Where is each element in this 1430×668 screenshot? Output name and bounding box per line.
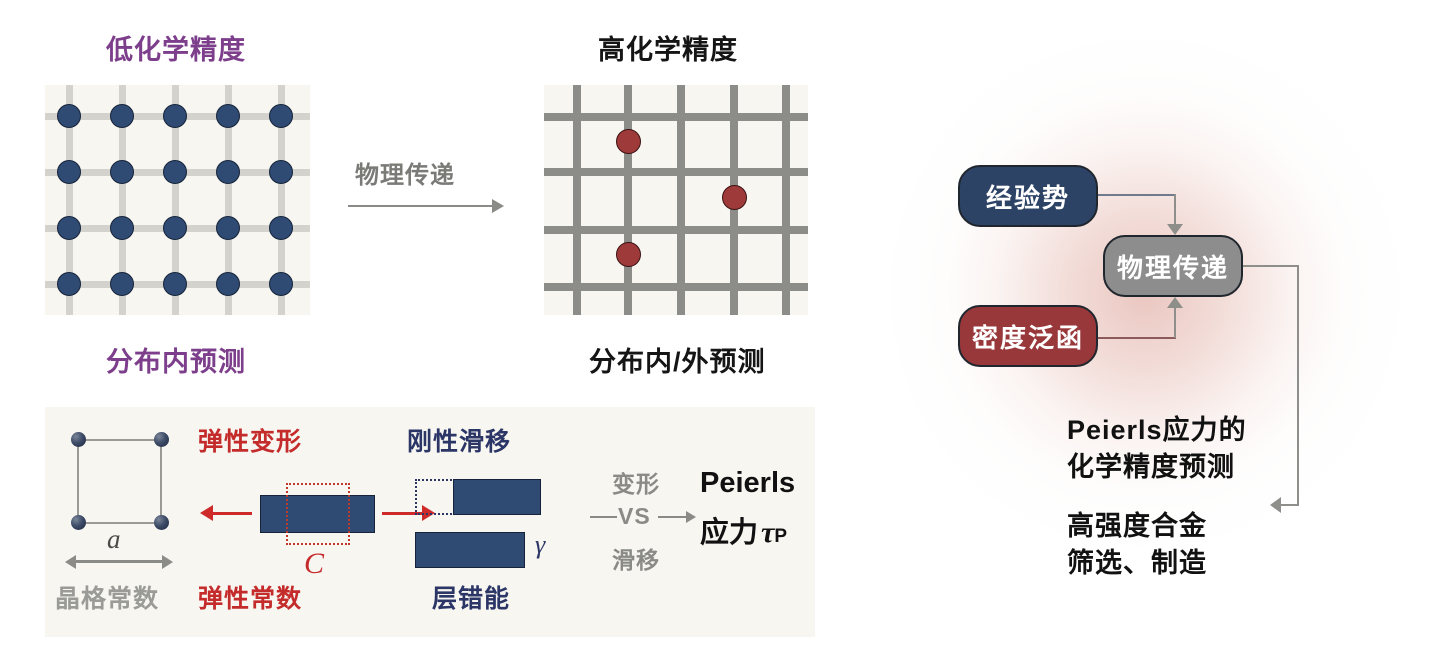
lattice-atom	[163, 160, 187, 184]
grid-line-h	[544, 283, 808, 291]
vs-top-label: 变形	[612, 465, 660, 499]
output-line-2: 化学精度预测	[1067, 449, 1247, 486]
lattice-atom	[110, 104, 134, 128]
lattice-atom	[110, 216, 134, 240]
slip-block-shifted	[453, 479, 541, 515]
output-line-4: 筛选、制造	[1067, 545, 1247, 582]
arrow-left-icon	[1270, 497, 1281, 513]
cell-edge	[160, 439, 162, 524]
arrow-right-icon	[162, 555, 173, 569]
unit-cell-diagram: a	[65, 429, 185, 564]
lattice-atom	[269, 272, 293, 296]
grid-line-h	[544, 113, 808, 121]
tau-subscript: P	[774, 526, 787, 548]
output-text-block: Peierls应力的 化学精度预测 高强度合金 筛选、制造	[1067, 412, 1247, 582]
label-stacking-fault-energy: 层错能	[432, 579, 510, 615]
lattice-atom	[163, 272, 187, 296]
lattice-atom	[216, 160, 240, 184]
arrow-down-icon	[1167, 224, 1183, 235]
transfer-label: 物理传递	[355, 155, 455, 190]
connector-ep-to-pt-vertical	[1174, 194, 1176, 225]
node-physics-transfer[interactable]: 物理传递	[1103, 235, 1243, 297]
connector-dft-to-pt-vertical	[1174, 307, 1176, 338]
lattice-atom	[216, 104, 240, 128]
connector-pt-to-output	[1243, 265, 1299, 267]
lattice-atom	[110, 272, 134, 296]
lattice-panel-low-accuracy	[45, 85, 310, 315]
label-rigid-slip: 刚性滑移	[407, 422, 511, 458]
dimension-line	[73, 560, 165, 563]
caption-low-accuracy: 分布内预测	[106, 340, 246, 379]
lattice-atom	[163, 216, 187, 240]
caption-high-accuracy: 分布内/外预测	[589, 340, 766, 379]
cell-atom	[71, 432, 86, 447]
lattice-atom	[216, 272, 240, 296]
elastic-constant-symbol: C	[304, 547, 324, 581]
connector-pt-to-output-tail	[1281, 504, 1299, 506]
stacking-fault-block	[415, 532, 525, 568]
elastic-deformation-diagram: C	[200, 467, 420, 572]
label-lattice-constant: 晶格常数	[55, 579, 159, 615]
cell-atom	[154, 515, 169, 530]
lattice-atom-defect	[616, 242, 641, 267]
heading-low-accuracy: 低化学精度	[106, 28, 246, 67]
peierls-line2-prefix: 应力	[700, 509, 758, 551]
peierls-line1: Peierls	[700, 467, 795, 500]
lattice-atom	[57, 216, 81, 240]
lattice-atom	[269, 160, 293, 184]
lattice-atom-defect	[722, 185, 747, 210]
cell-edge	[77, 439, 79, 524]
connector-ep-to-pt	[1098, 194, 1176, 196]
tau-symbol: τ	[758, 516, 774, 550]
arrow-up-icon	[1167, 297, 1183, 308]
connector-dft-to-pt	[1098, 337, 1176, 339]
output-line-3: 高强度合金	[1067, 508, 1247, 545]
node-empirical-potential[interactable]: 经验势	[958, 165, 1098, 227]
node-dft-label: 密度泛函	[972, 318, 1084, 355]
rigid-slip-diagram: γ	[405, 469, 595, 569]
lattice-atom-defect	[616, 129, 641, 154]
lattice-panel-high-accuracy	[544, 85, 808, 315]
connector-pt-to-output-vertical	[1297, 265, 1299, 506]
elastic-strain-outline	[286, 483, 350, 545]
lattice-atom	[269, 216, 293, 240]
label-elastic-constant: 弹性常数	[198, 579, 302, 615]
cell-atom	[154, 432, 169, 447]
strain-arrow-left	[210, 512, 252, 515]
lattice-atom	[216, 216, 240, 240]
label-elastic-deformation: 弹性变形	[198, 422, 302, 458]
lattice-atom	[163, 104, 187, 128]
heading-high-accuracy: 高化学精度	[598, 28, 738, 67]
grid-line-h	[544, 226, 808, 234]
cell-atom	[71, 515, 86, 530]
lattice-atom	[57, 160, 81, 184]
mechanism-panel: a 晶格常数 弹性变形 C 弹性常数 刚性滑移 γ 层错能 变形 VS 滑移 P…	[45, 407, 815, 637]
lattice-atom	[269, 104, 293, 128]
arrow-left-icon	[200, 505, 213, 521]
arrow-left-icon	[65, 555, 76, 569]
output-line-1: Peierls应力的	[1067, 412, 1247, 449]
node-dft[interactable]: 密度泛函	[958, 305, 1098, 367]
deformation-vs-slip: 变形 VS 滑移	[590, 465, 710, 580]
right-arrow-icon	[348, 198, 506, 214]
vs-label: VS	[618, 503, 651, 530]
node-physics-transfer-label: 物理传递	[1117, 248, 1229, 285]
lattice-atom	[110, 160, 134, 184]
lattice-constant-symbol: a	[107, 524, 121, 555]
cell-edge	[77, 439, 162, 441]
grid-line-h	[544, 168, 808, 176]
stacking-fault-symbol: γ	[535, 530, 545, 560]
peierls-stress-result: Peierls 应力 τ P	[700, 467, 830, 567]
arrow-right-icon	[686, 511, 696, 523]
lattice-atom	[57, 272, 81, 296]
node-empirical-potential-label: 经验势	[986, 178, 1070, 215]
vs-bottom-label: 滑移	[612, 541, 660, 575]
lattice-atom	[57, 104, 81, 128]
